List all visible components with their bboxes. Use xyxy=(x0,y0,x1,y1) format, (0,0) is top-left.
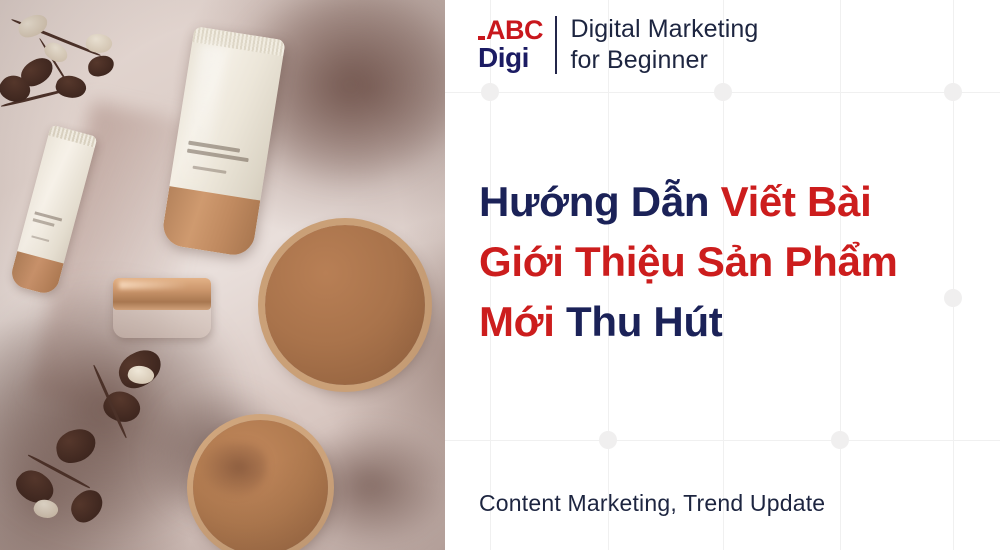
brand-tagline: Digital Marketing for Beginner xyxy=(571,14,759,75)
banner-canvas: ABC Digi Digital Marketing for Beginner … xyxy=(0,0,1000,550)
category-tags: Content Marketing, Trend Update xyxy=(479,490,825,517)
tagline-line-1: Digital Marketing xyxy=(571,14,759,45)
headline-segment-navy: Hướng Dẫn xyxy=(479,178,721,225)
headline-line-2: Giới Thiệu Sản Phẩm xyxy=(479,232,984,292)
product-photo xyxy=(0,0,445,550)
headline-line-1: Hướng Dẫn Viết Bài xyxy=(479,172,984,232)
photo-vignette xyxy=(0,0,445,550)
grid-dot xyxy=(714,83,732,101)
headline-segment-red: Giới Thiệu Sản Phẩm xyxy=(479,238,898,285)
logo-digi-text: Digi xyxy=(478,45,543,71)
logo-divider xyxy=(555,16,557,74)
content-panel: ABC Digi Digital Marketing for Beginner … xyxy=(445,0,1000,550)
headline-segment-red: Mới xyxy=(479,298,566,345)
grid-line-horizontal xyxy=(445,440,1000,441)
logo[interactable]: ABC Digi xyxy=(478,18,555,71)
grid-dot xyxy=(831,431,849,449)
headline-line-3: Mới Thu Hút xyxy=(479,292,984,352)
tagline-line-2: for Beginner xyxy=(571,45,759,76)
grid-dot xyxy=(944,83,962,101)
logo-abc-row: ABC xyxy=(478,18,543,43)
grid-dot xyxy=(481,83,499,101)
page-title: Hướng Dẫn Viết Bài Giới Thiệu Sản Phẩm M… xyxy=(479,172,984,352)
logo-abc-text: ABC xyxy=(486,18,543,43)
headline-segment-navy: Thu Hút xyxy=(566,298,723,345)
grid-dot xyxy=(599,431,617,449)
brand-header[interactable]: ABC Digi Digital Marketing for Beginner xyxy=(478,14,758,75)
logo-dash-icon xyxy=(478,36,485,40)
headline-segment-red: Viết Bài xyxy=(721,178,872,225)
